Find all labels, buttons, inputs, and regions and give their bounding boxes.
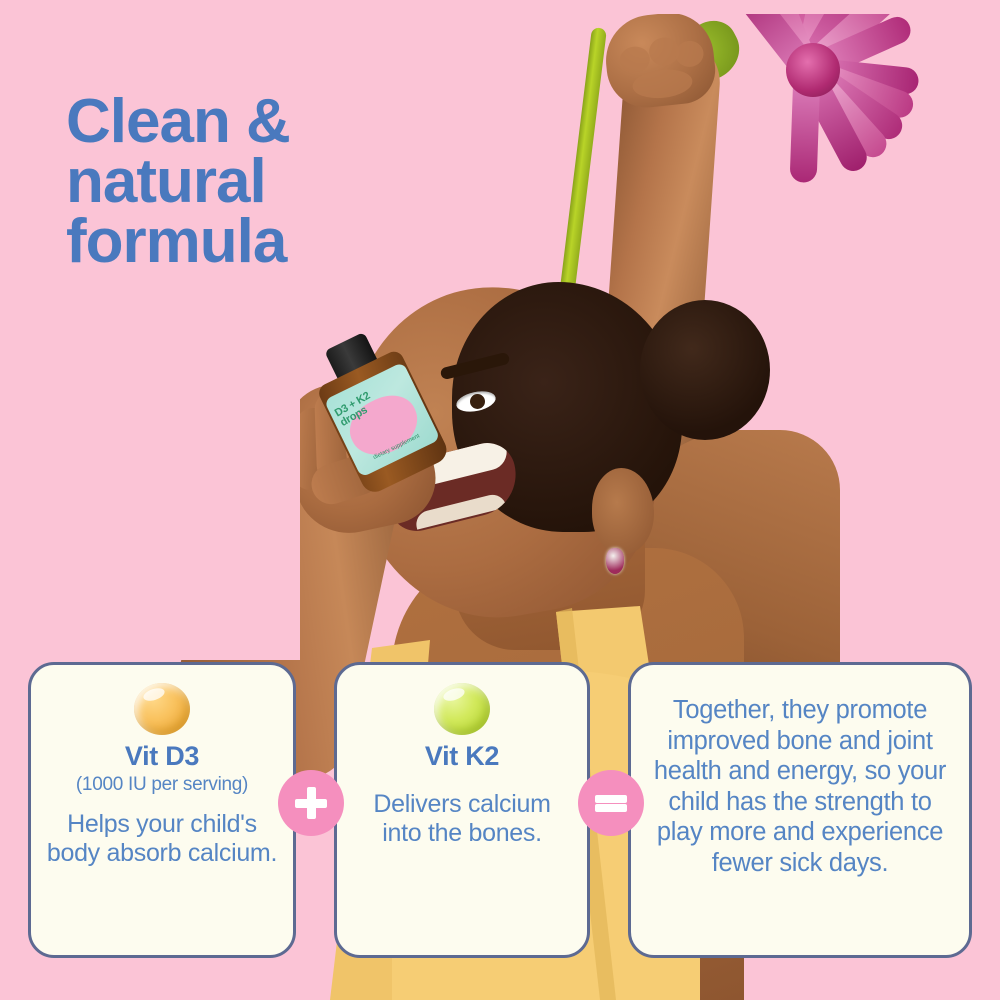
- plus-icon: [278, 770, 344, 836]
- card-title-vit-k2: Vit K2: [337, 741, 587, 772]
- equals-icon: [578, 770, 644, 836]
- card-subtitle-vit-d3: (1000 IU per serving): [31, 774, 293, 796]
- ear: [592, 468, 654, 554]
- headline-line-3: formula: [66, 212, 486, 272]
- benefit-card-vit-k2: Vit K2 Delivers calcium into the bones.: [334, 662, 590, 958]
- drop-icon-amber: [134, 683, 190, 735]
- headline-line-1: Clean &: [66, 92, 486, 152]
- promo-image: D3 + K2drops dietary supplement Clean & …: [0, 0, 1000, 1000]
- card-body-together: Together, they promote improved bone and…: [631, 665, 969, 879]
- background-fill-top: [0, 0, 1000, 14]
- benefit-cards: Vit D3 (1000 IU per serving) Helps your …: [0, 662, 1000, 962]
- drop-icon-green: [434, 683, 490, 735]
- benefit-card-together: Together, they promote improved bone and…: [628, 662, 972, 958]
- earring: [606, 548, 624, 574]
- benefit-card-vit-d3: Vit D3 (1000 IU per serving) Helps your …: [28, 662, 296, 958]
- hair-puff: [640, 300, 770, 440]
- card-body-vit-k2: Delivers calcium into the bones.: [337, 774, 587, 848]
- card-title-vit-d3: Vit D3: [31, 741, 293, 772]
- iris: [470, 394, 485, 409]
- card-body-vit-d3: Helps your child's body absorb calcium.: [31, 810, 293, 868]
- headline-line-2: natural: [66, 152, 486, 212]
- page-title: Clean & natural formula: [66, 92, 486, 272]
